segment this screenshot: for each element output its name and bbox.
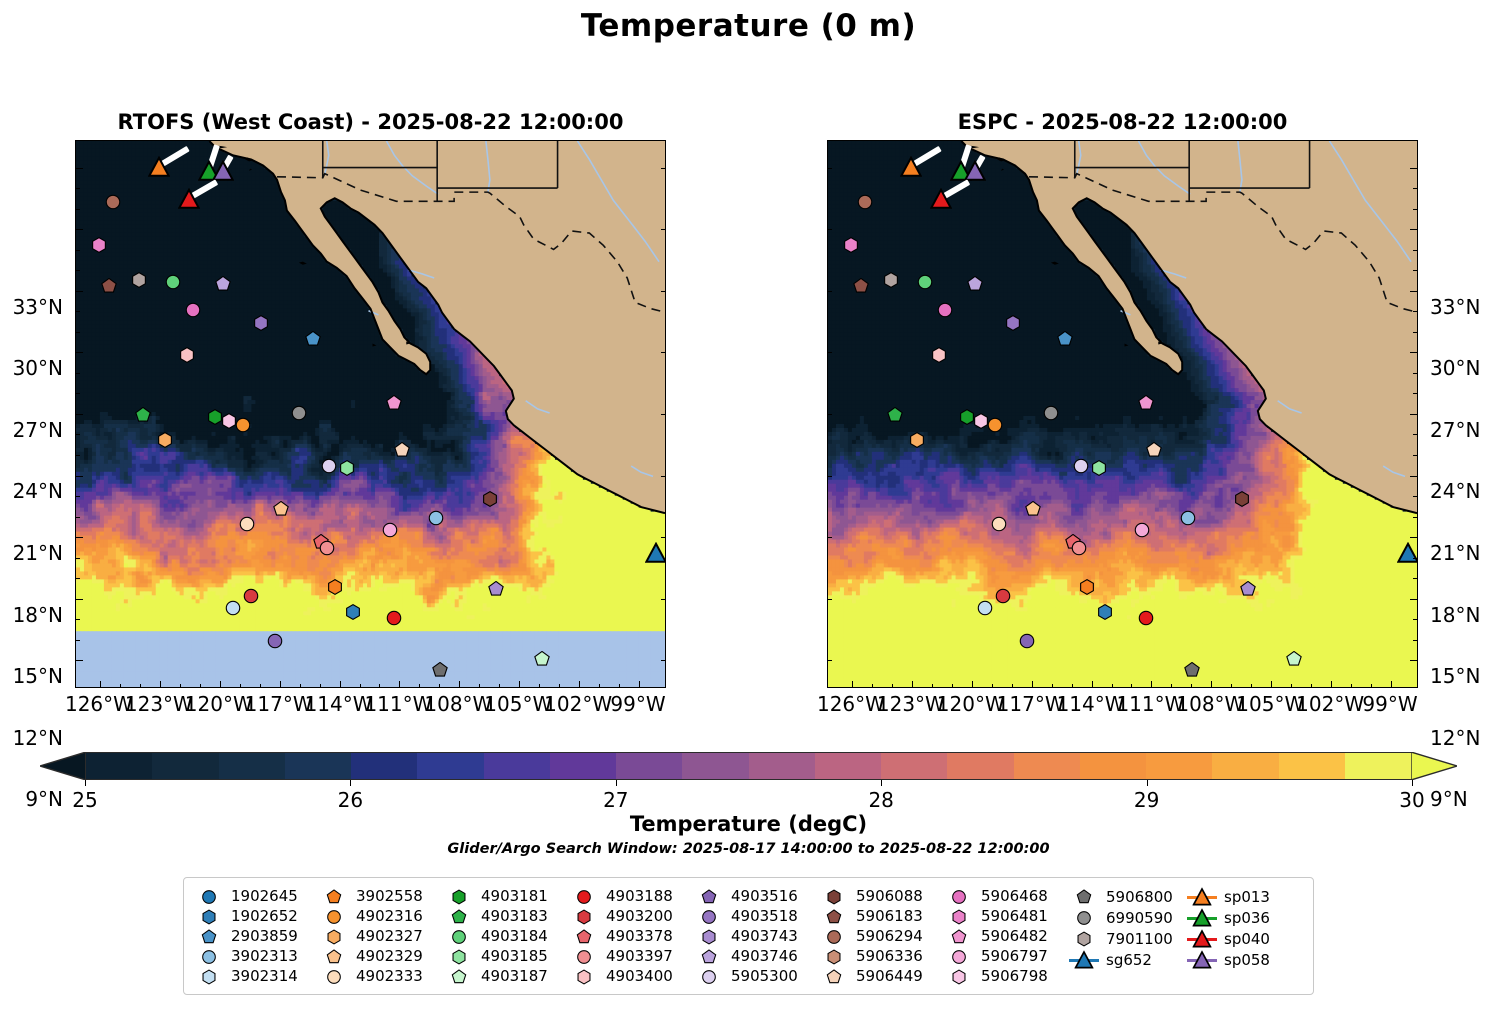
map-marker-sp040[interactable] [930, 188, 952, 210]
legend-item-5906294[interactable]: 5906294 [819, 927, 944, 945]
legend-marker-5906294 [819, 928, 849, 945]
ytick-opposite [828, 229, 832, 230]
xtick-label: 111°W [364, 692, 432, 716]
legend-item-5906797[interactable]: 5906797 [944, 947, 1069, 965]
xtick-minor [479, 684, 480, 688]
xtick [912, 681, 913, 688]
colorbar-segment-11 [815, 753, 881, 779]
xtick [399, 681, 400, 688]
legend-item-4903183[interactable]: 4903183 [444, 907, 569, 925]
xtick [1211, 681, 1212, 688]
colorbar-tick-label: 30 [1399, 788, 1424, 812]
map-marker-4903743[interactable] [488, 581, 504, 597]
ytick-minor [1413, 619, 1417, 620]
legend-marker-3902558 [319, 888, 349, 905]
legend-label: 4903181 [481, 887, 548, 905]
legend-label: 4903518 [731, 907, 798, 925]
legend-item-3902314[interactable]: 3902314 [194, 967, 319, 985]
ytick-minor [76, 373, 80, 374]
legend-item-5906088[interactable]: 5906088 [819, 887, 944, 905]
colorbar-segment-19 [1345, 753, 1411, 779]
legend-item-4902329[interactable]: 4902329 [319, 947, 444, 965]
legend-marker-6990590 [1069, 909, 1099, 926]
map-marker-4903185[interactable] [339, 460, 355, 476]
ytick-minor [76, 558, 80, 559]
colorbar-tick [881, 780, 882, 786]
legend-item-4903743[interactable]: 4903743 [694, 927, 819, 945]
legend-item-7901100[interactable]: 7901100 [1069, 929, 1187, 948]
xtick-label: 108°W [1176, 692, 1244, 716]
legend-item-5906798[interactable]: 5906798 [944, 967, 1069, 985]
legend-label: 4903397 [606, 947, 673, 965]
legend-item-sp036[interactable]: sp036 [1187, 908, 1297, 927]
legend-item-1902652[interactable]: 1902652 [194, 907, 319, 925]
map-marker-4903518[interactable] [1005, 315, 1021, 331]
map-panel-espc[interactable]: ESPC - 2025-08-22 12:00:00126°W123°W120°… [827, 140, 1418, 688]
map-marker-4902329[interactable] [273, 501, 289, 517]
map-marker-4903516[interactable] [1019, 633, 1035, 649]
legend-item-4902333[interactable]: 4902333 [319, 967, 444, 985]
map-marker-sp013[interactable] [148, 156, 170, 178]
colorbar-segment-9 [682, 753, 748, 779]
xtick-minor [379, 684, 380, 688]
legend-item-2903859[interactable]: 2903859 [194, 927, 319, 945]
ytick-minor [76, 393, 80, 394]
map-marker-3902313[interactable] [1180, 510, 1196, 526]
ytick-opposite [661, 168, 665, 169]
xtick [459, 681, 460, 688]
map-marker-4903183[interactable] [135, 407, 151, 423]
xtick [160, 681, 161, 688]
map-marker-4903183[interactable] [887, 407, 903, 423]
map-marker-1902652[interactable] [345, 604, 361, 620]
legend-marker-4903181 [444, 888, 474, 905]
map-marker-5906797[interactable] [1134, 522, 1150, 538]
legend-item-1902645[interactable]: 1902645 [194, 887, 319, 905]
xtick-label: 105°W [484, 692, 552, 716]
xtick-label: 117°W [997, 692, 1065, 716]
colorbar-extend-low [40, 752, 86, 780]
ytick-opposite [828, 414, 832, 415]
legend-marker-1902645 [194, 888, 224, 905]
ytick-minor [1413, 496, 1417, 497]
map-marker-5906294[interactable] [105, 194, 121, 210]
colorbar-tick-label: 25 [72, 788, 97, 812]
ytick-label: 24°N [13, 479, 63, 503]
map-marker-3902314[interactable] [225, 600, 241, 616]
xtick-minor [1371, 684, 1372, 688]
colorbar-title: Temperature (degC) [0, 812, 1497, 836]
ytick [76, 476, 83, 477]
legend-marker-3902313 [194, 948, 224, 965]
map-marker-5906482[interactable] [1138, 395, 1154, 411]
legend-item-4903181[interactable]: 4903181 [444, 887, 569, 905]
map-marker-6990590[interactable] [291, 405, 307, 421]
map-marker-4902333[interactable] [239, 516, 255, 532]
legend-label: 5906481 [981, 907, 1048, 925]
legend-label: 1902645 [231, 887, 298, 905]
colorbar-segment-3 [285, 753, 351, 779]
legend-label: 4903400 [606, 967, 673, 985]
legend-column-1: 39025584902316490232749023294902333 [319, 887, 444, 985]
legend-marker-5906183 [819, 908, 849, 925]
map-marker-5906183[interactable] [101, 278, 117, 294]
legend-marker-5906797 [944, 948, 974, 965]
ytick-opposite [661, 476, 665, 477]
legend-item-sp013[interactable]: sp013 [1187, 887, 1297, 906]
xtick-minor [1251, 684, 1252, 688]
map-marker-sg652[interactable] [645, 542, 666, 564]
ytick [1410, 660, 1417, 661]
map-marker-4903746[interactable] [215, 276, 231, 292]
legend-label: 5906482 [981, 927, 1048, 945]
map-marker-4903185[interactable] [1091, 460, 1107, 476]
legend-marker-5906800 [1069, 888, 1099, 905]
map-marker-3902313[interactable] [428, 510, 444, 526]
map-marker-5905300[interactable] [1073, 458, 1089, 474]
legend-label: 4903200 [606, 907, 673, 925]
legend-item-5906482[interactable]: 5906482 [944, 927, 1069, 945]
legend-marker-4902333 [319, 968, 349, 985]
legend-item-sp058[interactable]: sp058 [1187, 950, 1297, 969]
map-marker-1902645[interactable] [1138, 610, 1154, 626]
map-marker-4903184[interactable] [917, 274, 933, 290]
legend-item-4903185[interactable]: 4903185 [444, 947, 569, 965]
map-marker-4903184[interactable] [165, 274, 181, 290]
xtick-label: 126°W [817, 692, 885, 716]
map-marker-5906449[interactable] [394, 442, 410, 458]
xtick-minor [439, 684, 440, 688]
legend-label: 2903859 [231, 927, 298, 945]
legend-item-4903188[interactable]: 4903188 [569, 887, 694, 905]
ytick-label: 15°N [1430, 664, 1480, 688]
xtick-minor [260, 684, 261, 688]
map-marker-5906800[interactable] [432, 662, 448, 678]
legend-item-sp040[interactable]: sp040 [1187, 929, 1297, 948]
legend-marker-4903518 [694, 908, 724, 925]
legend-column-6: 59064685906481590648259067975906798 [944, 887, 1069, 985]
colorbar-segment-1 [152, 753, 218, 779]
legend-item-4903184[interactable]: 4903184 [444, 927, 569, 945]
xtick-minor [1052, 684, 1053, 688]
ytick-minor [1413, 517, 1417, 518]
colorbar-tick [350, 780, 351, 786]
legend-label: 4903185 [481, 947, 548, 965]
ytick-minor [1413, 250, 1417, 251]
ytick-minor [76, 311, 80, 312]
xtick-label: 117°W [245, 692, 313, 716]
ytick-minor [1413, 578, 1417, 579]
legend-item-3902558[interactable]: 3902558 [319, 887, 444, 905]
ytick-label: 27°N [13, 418, 63, 442]
legend-marker-5906449 [819, 968, 849, 985]
ytick-minor [1413, 455, 1417, 456]
xtick-minor [1191, 684, 1192, 688]
ytick [1410, 229, 1417, 230]
map-panel-rtofs[interactable]: RTOFS (West Coast) - 2025-08-22 12:00:00… [75, 140, 666, 688]
legend-label: 4902333 [356, 967, 423, 985]
map-marker-5906481[interactable] [91, 237, 107, 253]
colorbar-segment-10 [749, 753, 815, 779]
map-field-rtofs [76, 141, 665, 687]
panel-title-rtofs: RTOFS (West Coast) - 2025-08-22 12:00:00 [118, 110, 624, 140]
legend-item-6990590[interactable]: 6990590 [1069, 908, 1187, 927]
legend-label: 5906800 [1106, 888, 1173, 906]
colorbar-segment-4 [351, 753, 417, 779]
map-marker-4903397[interactable] [319, 540, 335, 556]
xtick [280, 681, 281, 688]
ytick [76, 660, 83, 661]
map-marker-4903187[interactable] [1286, 651, 1302, 667]
ytick-label: 30°N [1430, 356, 1480, 380]
legend-label: 4902316 [356, 907, 423, 925]
map-field-espc [828, 141, 1417, 687]
xtick-label: 108°W [424, 692, 492, 716]
legend-marker-4903184 [444, 928, 474, 945]
ytick-label: 21°N [13, 541, 63, 565]
ytick-minor [76, 455, 80, 456]
legend-item-4903400[interactable]: 4903400 [569, 967, 694, 985]
map-marker-4903746[interactable] [967, 276, 983, 292]
legend-marker-4903183 [444, 908, 474, 925]
xtick-minor [320, 684, 321, 688]
map-marker-4902327[interactable] [157, 432, 173, 448]
xtick-minor [1171, 684, 1172, 688]
legend-label: 5906468 [981, 887, 1048, 905]
ytick-opposite [661, 414, 665, 415]
colorbar-tick-label: 28 [868, 788, 893, 812]
ytick-opposite [661, 352, 665, 353]
ytick-opposite [828, 537, 832, 538]
map-marker-5906800[interactable] [1184, 662, 1200, 678]
colorbar-tick-label: 27 [603, 788, 628, 812]
map-marker-4903397[interactable] [1071, 540, 1087, 556]
ytick-minor [76, 188, 80, 189]
ytick-label: 18°N [1430, 603, 1480, 627]
legend-column-7: 590680069905907901100sg652 [1069, 887, 1187, 985]
map-marker-5906088[interactable] [482, 491, 498, 507]
legend-marker-7901100 [1069, 930, 1099, 947]
map-marker-4903516[interactable] [267, 633, 283, 649]
map-marker-4903400[interactable] [931, 347, 947, 363]
ytick [1410, 414, 1417, 415]
xtick-minor [1311, 684, 1312, 688]
ytick [1410, 537, 1417, 538]
ytick-label: 21°N [1430, 541, 1480, 565]
legend-item-5906800[interactable]: 5906800 [1069, 887, 1187, 906]
legend-label: 3902313 [231, 947, 298, 965]
legend-label: sp036 [1224, 909, 1270, 927]
xtick [519, 681, 520, 688]
legend-item-4903516[interactable]: 4903516 [694, 887, 819, 905]
ytick-minor [1413, 270, 1417, 271]
map-marker-5906183[interactable] [853, 278, 869, 294]
ytick [76, 352, 83, 353]
xtick-minor [1351, 684, 1352, 688]
map-marker-1902645[interactable] [386, 610, 402, 626]
xtick-label: 105°W [1236, 692, 1304, 716]
map-marker-4902333[interactable] [991, 516, 1007, 532]
ytick-opposite [661, 291, 665, 292]
ytick-minor [1413, 332, 1417, 333]
legend-label: 5906797 [981, 947, 1048, 965]
legend-marker-5906088 [819, 888, 849, 905]
xtick-minor [300, 684, 301, 688]
xtick-minor [932, 684, 933, 688]
legend-item-4903397[interactable]: 4903397 [569, 947, 694, 965]
map-marker-4903200[interactable] [243, 588, 259, 604]
map-marker-2903859[interactable] [1057, 331, 1073, 347]
ytick-opposite [661, 537, 665, 538]
ytick [76, 291, 83, 292]
legend-label: sg652 [1106, 951, 1152, 969]
legend-marker-4903185 [444, 948, 474, 965]
legend-label: 5906183 [856, 907, 923, 925]
legend-label: 6990590 [1106, 909, 1173, 927]
colorbar-tick [85, 780, 86, 786]
legend-label: 4902329 [356, 947, 423, 965]
legend-label: 4903187 [481, 967, 548, 985]
map-marker-sg652[interactable] [1397, 542, 1418, 564]
map-canvas-espc[interactable] [827, 140, 1418, 688]
ytick-opposite [661, 229, 665, 230]
legend-item-5906183[interactable]: 5906183 [819, 907, 944, 925]
map-marker-4903400[interactable] [179, 347, 195, 363]
map-marker-1902652[interactable] [1097, 604, 1113, 620]
legend-item-sg652[interactable]: sg652 [1069, 950, 1187, 969]
map-canvas-rtofs[interactable] [75, 140, 666, 688]
legend[interactable]: 1902645190265229038593902313390231439025… [183, 877, 1314, 995]
ytick-label: 15°N [13, 664, 63, 688]
ytick-opposite [828, 168, 832, 169]
legend-item-4903187[interactable]: 4903187 [444, 967, 569, 985]
map-marker-sp040[interactable] [178, 188, 200, 210]
legend-item-4903746[interactable]: 4903746 [694, 947, 819, 965]
legend-marker-4903743 [694, 928, 724, 945]
legend-label: 4903746 [731, 947, 798, 965]
ytick-label: 30°N [13, 356, 63, 380]
map-marker-4903200[interactable] [995, 588, 1011, 604]
map-marker-5905300[interactable] [321, 458, 337, 474]
legend-item-4903518[interactable]: 4903518 [694, 907, 819, 925]
colorbar-tick-label: 26 [338, 788, 363, 812]
ytick [76, 414, 83, 415]
ytick-minor [1413, 640, 1417, 641]
legend-marker-4903746 [694, 948, 724, 965]
ytick-minor [76, 332, 80, 333]
map-marker-4903518[interactable] [253, 315, 269, 331]
map-marker-5906797[interactable] [382, 522, 398, 538]
legend-column-0: 19026451902652290385939023133902314 [194, 887, 319, 985]
legend-label: sp058 [1224, 951, 1270, 969]
legend-item-3902313[interactable]: 3902313 [194, 947, 319, 965]
map-marker-5906088[interactable] [1234, 491, 1250, 507]
xtick-minor [1112, 684, 1113, 688]
colorbar-segment-0 [86, 753, 152, 779]
map-marker-sp013[interactable] [900, 156, 922, 178]
map-marker-5906294[interactable] [857, 194, 873, 210]
legend-item-5906468[interactable]: 5906468 [944, 887, 1069, 905]
colorbar-segment-16 [1146, 753, 1212, 779]
legend-marker-sp013 [1187, 888, 1217, 905]
legend-item-4902327[interactable]: 4902327 [319, 927, 444, 945]
map-marker-4903743[interactable] [1240, 581, 1256, 597]
ytick-opposite [661, 660, 665, 661]
ytick-label: 12°N [13, 726, 63, 750]
legend-item-4903200[interactable]: 4903200 [569, 907, 694, 925]
legend-label: 4903378 [606, 927, 673, 945]
map-marker-7901100[interactable] [883, 272, 899, 288]
map-marker-4902327[interactable] [909, 432, 925, 448]
xtick-minor [599, 684, 600, 688]
legend-item-5905300[interactable]: 5905300 [694, 967, 819, 985]
legend-column-3: 49031884903200490337849033974903400 [569, 887, 694, 985]
legend-item-5906481[interactable]: 5906481 [944, 907, 1069, 925]
map-marker-3902314[interactable] [977, 600, 993, 616]
ytick-minor [76, 250, 80, 251]
ytick-opposite [828, 476, 832, 477]
map-marker-5906482[interactable] [386, 395, 402, 411]
map-marker-4902316[interactable] [235, 417, 251, 433]
xtick-minor [1131, 684, 1132, 688]
map-marker-5906449[interactable] [1146, 442, 1162, 458]
legend-label: 4902327 [356, 927, 423, 945]
xtick [972, 681, 973, 688]
xtick-label: 99°W [610, 692, 665, 716]
map-marker-4902558[interactable] [327, 579, 343, 595]
map-marker-4903187[interactable] [534, 651, 550, 667]
legend-column-4: 49035164903518490374349037465905300 [694, 887, 819, 985]
legend-item-5906449[interactable]: 5906449 [819, 967, 944, 985]
ytick [76, 168, 83, 169]
map-marker-5906468[interactable] [937, 302, 953, 318]
xtick-minor [200, 684, 201, 688]
legend-marker-4903400 [569, 968, 599, 985]
xtick-minor [419, 684, 420, 688]
map-marker-4902558[interactable] [1079, 579, 1095, 595]
ytick-minor [1413, 209, 1417, 210]
xtick [1092, 681, 1093, 688]
map-marker-7901100[interactable] [131, 272, 147, 288]
legend-marker-4903378 [569, 928, 599, 945]
legend-label: 5906449 [856, 967, 923, 985]
map-marker-2903859[interactable] [305, 331, 321, 347]
xtick-minor [952, 684, 953, 688]
ytick-minor [76, 209, 80, 210]
map-marker-4902329[interactable] [1025, 501, 1041, 517]
ytick-minor [1413, 188, 1417, 189]
ytick-minor [1413, 558, 1417, 559]
map-marker-6990590[interactable] [1043, 405, 1059, 421]
map-marker-5906481[interactable] [843, 237, 859, 253]
xtick-minor [360, 684, 361, 688]
map-marker-4902316[interactable] [987, 417, 1003, 433]
legend-item-4903378[interactable]: 4903378 [569, 927, 694, 945]
xtick-minor [120, 684, 121, 688]
xtick [100, 681, 101, 688]
legend-marker-3902314 [194, 968, 224, 985]
ytick [1410, 291, 1417, 292]
legend-marker-4903187 [444, 968, 474, 985]
legend-item-5906336[interactable]: 5906336 [819, 947, 944, 965]
map-marker-5906468[interactable] [185, 302, 201, 318]
ytick [76, 599, 83, 600]
xtick-minor [559, 684, 560, 688]
xtick [1151, 681, 1152, 688]
legend-marker-5906482 [944, 928, 974, 945]
ytick-minor [1413, 434, 1417, 435]
legend-item-4902316[interactable]: 4902316 [319, 907, 444, 925]
